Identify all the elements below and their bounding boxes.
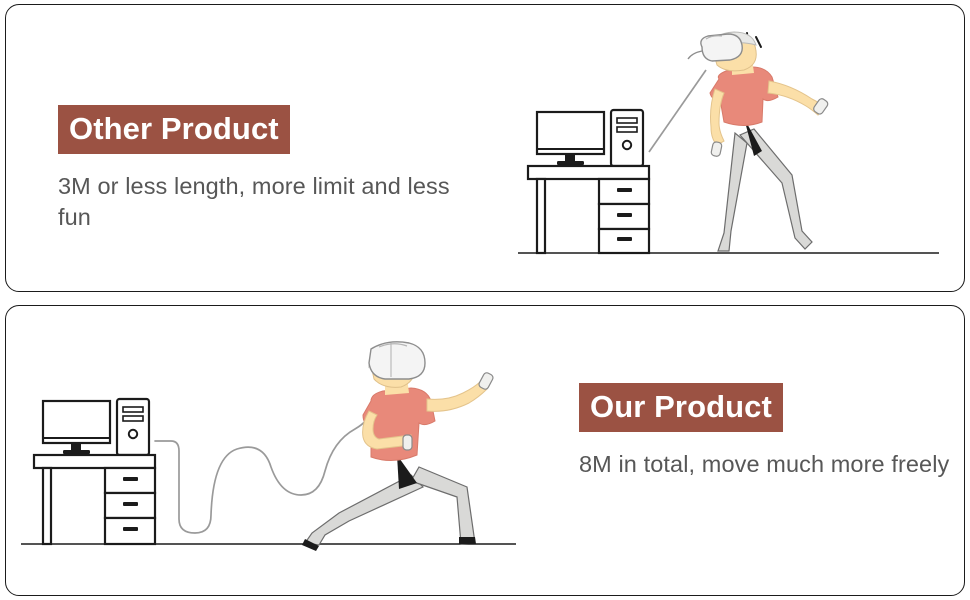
left-vr-controller bbox=[403, 435, 412, 450]
vr-headset-slipping bbox=[688, 34, 742, 61]
front-foot-shadow bbox=[459, 537, 476, 544]
desk-top bbox=[34, 455, 155, 468]
figure-front-leg bbox=[740, 129, 812, 249]
desk-top bbox=[528, 166, 649, 179]
vr-headset-worn bbox=[369, 342, 425, 379]
right-vr-controller bbox=[478, 372, 494, 391]
badge-our-product: Our Product bbox=[579, 383, 783, 432]
vr-user-figure-pulled bbox=[688, 32, 829, 251]
vr-user-figure-running bbox=[302, 342, 494, 551]
illustration-short-cable-vr-user bbox=[516, 23, 941, 263]
short-taut-cable bbox=[649, 70, 706, 152]
monitor-icon bbox=[43, 401, 110, 454]
figure-left-arm bbox=[711, 89, 725, 145]
text-block-our-product: Our Product 8M in total, move much more … bbox=[579, 383, 959, 480]
monitor-icon bbox=[537, 112, 604, 165]
subtitle-other-product: 3M or less length, more limit and less f… bbox=[58, 171, 458, 232]
panel-our-product: Our Product 8M in total, move much more … bbox=[5, 305, 965, 596]
badge-other-product: Other Product bbox=[58, 105, 290, 154]
illustration-long-cable-vr-user bbox=[19, 337, 519, 557]
pc-tower-icon bbox=[611, 110, 643, 166]
left-vr-controller bbox=[711, 141, 723, 157]
drawer-cabinet bbox=[599, 179, 649, 253]
desk-leg bbox=[43, 468, 51, 544]
drawer-cabinet bbox=[105, 468, 155, 544]
figure-back-leg bbox=[718, 133, 747, 251]
subtitle-our-product: 8M in total, move much more freely bbox=[579, 449, 959, 480]
comparison-infographic: Other Product 3M or less length, more li… bbox=[0, 0, 970, 600]
figure-front-leg bbox=[411, 467, 475, 544]
figure-right-arm bbox=[427, 381, 487, 411]
desk-setup bbox=[528, 110, 649, 253]
desk-setup bbox=[34, 399, 155, 544]
pc-tower-icon bbox=[117, 399, 149, 455]
text-block-other-product: Other Product 3M or less length, more li… bbox=[58, 105, 478, 232]
panel-other-product: Other Product 3M or less length, more li… bbox=[5, 4, 965, 292]
desk-leg bbox=[537, 179, 545, 253]
